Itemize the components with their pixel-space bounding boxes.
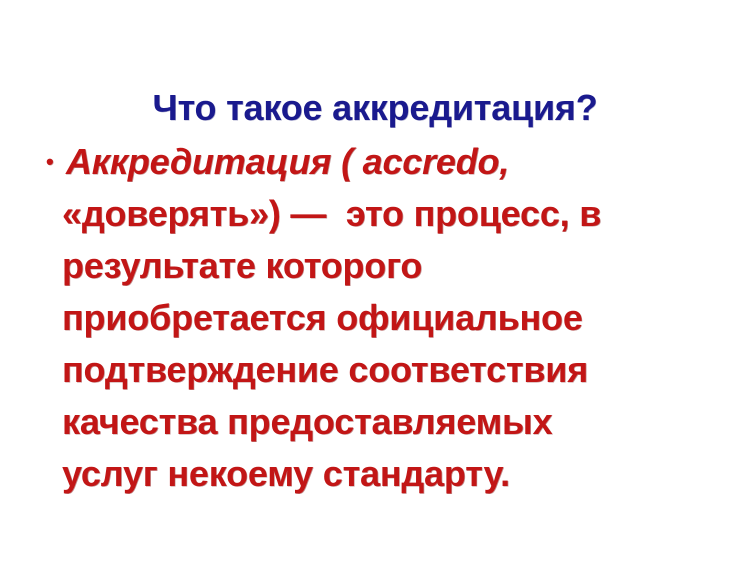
bullet-dot-icon: • <box>46 136 68 188</box>
body-content: • Аккредитация ( accredo, «доверять») — … <box>44 136 716 500</box>
list-item: • Аккредитация ( accredo, «доверять») — … <box>44 136 716 500</box>
body-line-2: «доверять») — это процесс, в <box>62 188 716 240</box>
slide-canvas: Что такое аккредитация? • Аккредитация (… <box>0 0 750 562</box>
body-line-6: качества предоставляемых <box>62 396 716 448</box>
body-line-1: Аккредитация ( accredo, <box>66 136 716 188</box>
list-item-text: Аккредитация ( accredo, «доверять») — эт… <box>66 136 716 500</box>
body-line-5: подтверждение соответствия <box>62 344 716 396</box>
body-line-4: приобретается официальное <box>62 292 716 344</box>
body-line-7: услуг некоему стандарту. <box>62 448 716 500</box>
page-title: Что такое аккредитация? <box>0 86 750 130</box>
body-line-3: результате которого <box>62 240 716 292</box>
